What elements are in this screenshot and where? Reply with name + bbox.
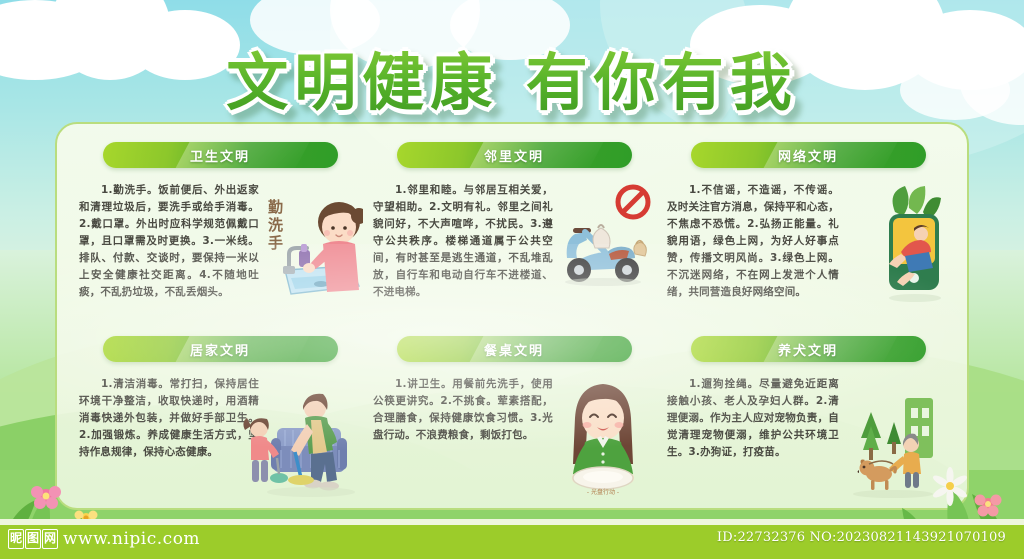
section-header-internet[interactable]: 网络文明 [691,142,926,168]
site-logo[interactable]: 昵 图 网 www.nipic.com [8,528,200,550]
section-hygiene: 卫生文明 1.勤洗手。饭前便后、外出返家和清理垃圾后，要洗手或给手消毒。2.戴口… [75,134,365,328]
section-header-hygiene-label: 卫生文明 [103,142,338,168]
section-header-dining[interactable]: 餐桌文明 [397,336,632,362]
section-header-pets[interactable]: 养犬文明 [691,336,926,362]
section-header-neighborhood-label: 邻里文明 [397,142,632,168]
scooter-no-entry-illustration [549,178,657,318]
girl-holding-empty-plate-illustration: - 光盘行动 - [549,372,657,510]
section-header-hygiene[interactable]: 卫生文明 [103,142,338,168]
nipic-logo-icon: 昵 图 网 [8,529,58,549]
section-neighborhood: 邻里文明 1.邻里和睦。与邻居互相关爱，守望相助。2.文明有礼。邻里之间礼貌问好… [369,134,659,328]
person-with-phone-illustration [843,178,951,318]
svg-text:勤: 勤 [268,198,283,216]
svg-text:洗: 洗 [268,216,283,234]
logo-char-1: 昵 [8,529,24,549]
svg-text:手: 手 [268,234,283,252]
section-header-home[interactable]: 居家文明 [103,336,338,362]
section-neighborhood-body: 1.邻里和睦。与邻居互相关爱，守望相助。2.文明有礼。邻里之间礼貌问好，不大声喧… [373,182,553,301]
section-row-top: 卫生文明 1.勤洗手。饭前便后、外出返家和清理垃圾后，要洗手或给手消毒。2.戴口… [57,134,969,328]
girl-washing-hands-illustration: 勤 洗 手 [255,178,363,318]
poster-title-wrap: 文明健康 有你有我 [0,32,1024,122]
footer-top-strip [0,519,1024,525]
section-dining-body: 1.讲卫生。用餐前先洗手，使用公筷更讲究。2.不挑食。荤素搭配，合理膳食，保持健… [373,376,553,444]
logo-char-2: 图 [25,529,41,549]
poster-title: 文明健康 有你有我 [226,32,798,122]
section-hygiene-body: 1.勤洗手。饭前便后、外出返家和清理垃圾后，要洗手或给手消毒。2.戴口罩。外出时… [79,182,259,301]
section-header-pets-label: 养犬文明 [691,336,926,362]
section-internet-body: 1.不信谣，不造谣，不传谣。及时关注官方消息，保持平和心态，不焦虑不恐慌。2.弘… [667,182,839,301]
section-header-home-label: 居家文明 [103,336,338,362]
site-url[interactable]: www.nipic.com [63,529,200,549]
section-header-internet-label: 网络文明 [691,142,926,168]
section-header-dining-label: 餐桌文明 [397,336,632,362]
section-pets-body: 1.遛狗拴绳。尽量避免近距离接触小孩、老人及孕妇人群。2.清理便溺。作为主人应对… [667,376,839,461]
section-header-neighborhood[interactable]: 邻里文明 [397,142,632,168]
section-dining: 餐桌文明 1.讲卫生。用餐前先洗手，使用公筷更讲究。2.不挑食。荤素搭配，合理膳… [369,328,659,510]
poster-canvas: 文明健康 有你有我 卫生文明 1.勤洗手。饭前便后、外出返家和清理垃圾后，要洗手… [0,0,1024,559]
svg-text:- 光盘行动 -: - 光盘行动 - [587,488,619,496]
site-footer: 昵 图 网 www.nipic.com ID:22732376 NO:20230… [0,519,1024,559]
logo-char-3: 网 [42,529,58,549]
image-id-text: ID:22732376 NO:20230821143921070109 [717,530,1006,545]
section-internet: 网络文明 1.不信谣，不造谣，不传谣。及时关注官方消息，保持平和心态，不焦虑不恐… [663,134,953,328]
family-cleaning-illustration [237,372,387,510]
